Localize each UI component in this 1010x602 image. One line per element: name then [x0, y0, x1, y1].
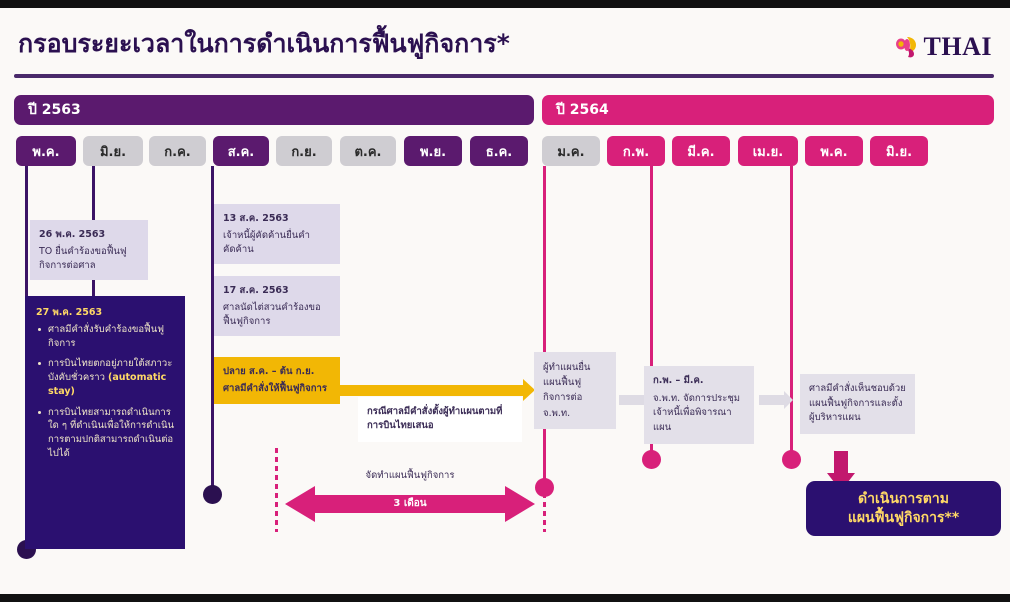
- callout-may26-date: 26 พ.ค. 2563: [39, 228, 139, 242]
- callout-may27-bullet-1: ศาลมีคำสั่งรับคำร้องขอฟื้นฟูกิจการ: [48, 323, 174, 351]
- month-chip-nov-2563[interactable]: พ.ย.: [404, 136, 462, 166]
- callout-court-order-date: ปลาย ส.ค. – ต้น ก.ย.: [223, 365, 331, 379]
- callout-may27-bullet-3: การบินไทยสามารถดำเนินการใด ๆ ที่ดำเนินเพ…: [48, 406, 174, 461]
- final-outcome-box[interactable]: ดำเนินการตาม แผนฟื้นฟูกิจการ**: [806, 481, 1001, 536]
- callout-may27-bullets: ศาลมีคำสั่งรับคำร้องขอฟื้นฟูกิจการ การบิ…: [36, 323, 174, 461]
- month-chip-dec-2563[interactable]: ธ.ค.: [470, 136, 528, 166]
- timeline-line-dec-jan: [543, 166, 546, 484]
- callout-may27-bullet-2: การบินไทยตกอยู่ภายใต้สภาวะบังคับชั่วคราว…: [48, 357, 174, 398]
- flow-arrow-2-head-icon: [784, 391, 793, 409]
- final-outcome-line1: ดำเนินการตาม: [858, 490, 949, 509]
- flow-arrow-2-shaft: [759, 395, 784, 405]
- letterbox-top: [0, 0, 1010, 8]
- callout-submit-plan[interactable]: ผู้ทำแผนยื่นแผนฟื้นฟูกิจการต่อ จ.พ.ท.: [534, 352, 616, 429]
- automatic-stay-highlight: (automatic stay): [48, 372, 166, 397]
- slide-header: กรอบระยะเวลาในการดำเนินการฟื้นฟูกิจการ* …: [0, 8, 1010, 80]
- callout-creditor-meeting-text: จ.พ.ท. จัดการประชุมเจ้าหนี้เพื่อพิจารณาแ…: [653, 393, 740, 433]
- month-chip-jul-2563[interactable]: ก.ค.: [149, 136, 206, 166]
- timeline-dot-apr-2564: [782, 450, 801, 469]
- month-chip-jun-2564[interactable]: มิ.ย.: [870, 136, 928, 166]
- thai-logo: THAI: [894, 32, 992, 62]
- flow-arrow-2-icon: [759, 391, 793, 409]
- callout-may27-bullet-2-text: การบินไทยตกอยู่ภายใต้สภาวะบังคับชั่วคราว…: [48, 358, 172, 397]
- callout-planner[interactable]: กรณีศาลมีคำสั่งตั้งผู้ทำแผนตามที่การบินไ…: [358, 397, 522, 442]
- callout-aug13[interactable]: 13 ส.ค. 2563 เจ้าหนี้ผู้คัดค้านยื่นคำคัด…: [214, 204, 340, 264]
- callout-approval[interactable]: ศาลมีคำสั่งเห็นชอบด้วยแผนฟื้นฟูกิจการและ…: [800, 374, 915, 434]
- callout-aug17-date: 17 ส.ค. 2563: [223, 284, 331, 298]
- month-chip-feb-2564[interactable]: ก.พ.: [607, 136, 665, 166]
- month-chip-apr-2564[interactable]: เม.ย.: [738, 136, 798, 166]
- flow-arrow-1-shaft: [619, 395, 644, 405]
- callout-may27-date: 27 พ.ค. 2563: [36, 306, 174, 320]
- month-chip-mar-2564[interactable]: มี.ค.: [672, 136, 730, 166]
- final-outcome-line2: แผนฟื้นฟูกิจการ**: [848, 509, 959, 528]
- callout-aug17[interactable]: 17 ส.ค. 2563 ศาลนัดไต่สวนคำร้องขอฟื้นฟูก…: [214, 276, 340, 336]
- timeline-dot-aug-2563: [203, 485, 222, 504]
- duration-arrow-label: จัดทำแผนฟื้นฟูกิจการ: [285, 468, 535, 483]
- slide-canvas: กรอบระยะเวลาในการดำเนินการฟื้นฟูกิจการ* …: [0, 8, 1010, 594]
- callout-may26[interactable]: 26 พ.ค. 2563 TO ยื่นคำร้องขอฟื้นฟูกิจการ…: [30, 220, 148, 280]
- month-chip-oct-2563[interactable]: ต.ค.: [340, 136, 396, 166]
- callout-approval-text: ศาลมีคำสั่งเห็นชอบด้วยแผนฟื้นฟูกิจการและ…: [809, 383, 906, 423]
- page-title: กรอบระยะเวลาในการดำเนินการฟื้นฟูกิจการ*: [18, 24, 510, 64]
- thai-brand-text: THAI: [924, 32, 992, 62]
- span-guide-left: [275, 448, 278, 532]
- header-divider: [14, 74, 994, 78]
- callout-aug13-date: 13 ส.ค. 2563: [223, 212, 331, 226]
- duration-arrow-value: 3 เดือน: [285, 496, 535, 511]
- year-bar-2564: ปี 2564: [542, 95, 994, 125]
- timeline-dot-feb-2564: [642, 450, 661, 469]
- month-chip-jun-2563[interactable]: มิ.ย.: [83, 136, 143, 166]
- year-bar-2563: ปี 2563: [14, 95, 534, 125]
- callout-creditor-meeting-date: ก.พ. – มี.ค.: [653, 374, 745, 389]
- callout-planner-text: กรณีศาลมีคำสั่งตั้งผู้ทำแผนตามที่การบินไ…: [367, 406, 502, 431]
- callout-submit-plan-text: ผู้ทำแผนยื่นแผนฟื้นฟูกิจการต่อ จ.พ.ท.: [543, 362, 590, 419]
- callout-aug13-text: เจ้าหนี้ผู้คัดค้านยื่นคำคัดค้าน: [223, 230, 310, 255]
- month-chip-sep-2563[interactable]: ก.ย.: [276, 136, 332, 166]
- month-chip-jan-2564[interactable]: ม.ค.: [542, 136, 600, 166]
- callout-aug17-text: ศาลนัดไต่สวนคำร้องขอฟื้นฟูกิจการ: [223, 302, 321, 327]
- callout-may27[interactable]: 27 พ.ค. 2563 ศาลมีคำสั่งรับคำร้องขอฟื้นฟ…: [25, 296, 185, 549]
- month-chip-may-2564[interactable]: พ.ค.: [805, 136, 863, 166]
- thai-orchid-logo-icon: [894, 35, 920, 59]
- timeline-line-apr-2564: [790, 166, 793, 456]
- callout-court-order-text: ศาลมีคำสั่งให้ฟื้นฟูกิจการ: [223, 383, 327, 394]
- letterbox-bottom: [0, 594, 1010, 602]
- month-chip-aug-2563[interactable]: ส.ค.: [213, 136, 269, 166]
- callout-creditor-meeting[interactable]: ก.พ. – มี.ค. จ.พ.ท. จัดการประชุมเจ้าหนี้…: [644, 366, 754, 444]
- callout-may26-text: TO ยื่นคำร้องขอฟื้นฟูกิจการต่อศาล: [39, 246, 127, 271]
- yellow-connector-shaft: [335, 385, 525, 396]
- final-down-arrow-shaft: [834, 451, 848, 475]
- timeline-dot-dec-jan: [535, 478, 554, 497]
- callout-court-order[interactable]: ปลาย ส.ค. – ต้น ก.ย. ศาลมีคำสั่งให้ฟื้นฟ…: [214, 357, 340, 404]
- month-chip-may-2563[interactable]: พ.ค.: [16, 136, 76, 166]
